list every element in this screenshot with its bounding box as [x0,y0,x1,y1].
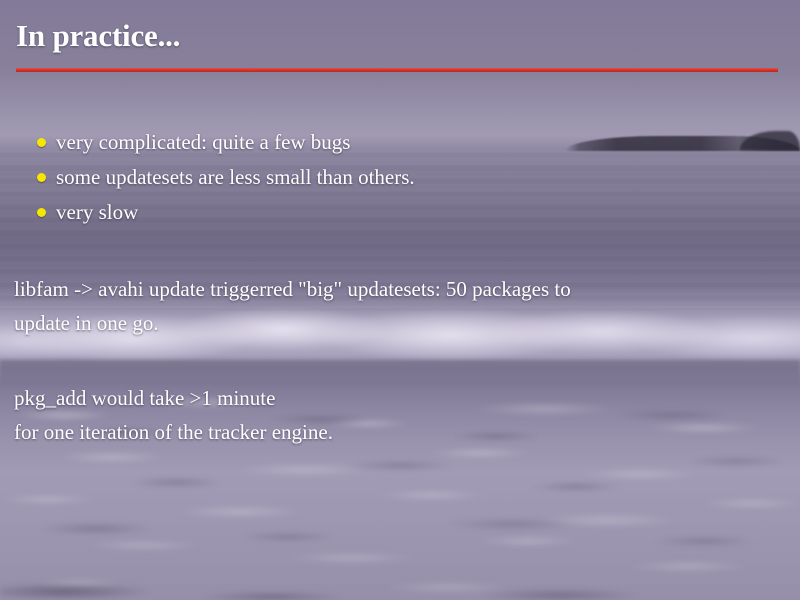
bullet-label: very complicated: quite a few bugs [56,130,350,154]
slide-content: In practice... very complicated: quite a… [0,0,800,600]
bullet-list: very complicated: quite a few bugs some … [36,130,415,235]
bullet-label: some updatesets are less small than othe… [56,165,415,189]
body-paragraph-pkgadd: pkg_add would take >1 minute for one ite… [14,381,774,449]
bullet-dot-icon [37,208,46,217]
list-item: very slow [36,200,415,224]
title-underline-rule [16,68,778,72]
slide-title: In practice... [16,18,180,54]
list-item: very complicated: quite a few bugs [36,130,415,154]
list-item: some updatesets are less small than othe… [36,165,415,189]
bullet-dot-icon [37,138,46,147]
bullet-dot-icon [37,173,46,182]
presentation-slide: In practice... very complicated: quite a… [0,0,800,600]
bullet-label: very slow [56,200,138,224]
body-paragraph-updatesets: libfam -> avahi update triggerred "big" … [14,272,774,340]
